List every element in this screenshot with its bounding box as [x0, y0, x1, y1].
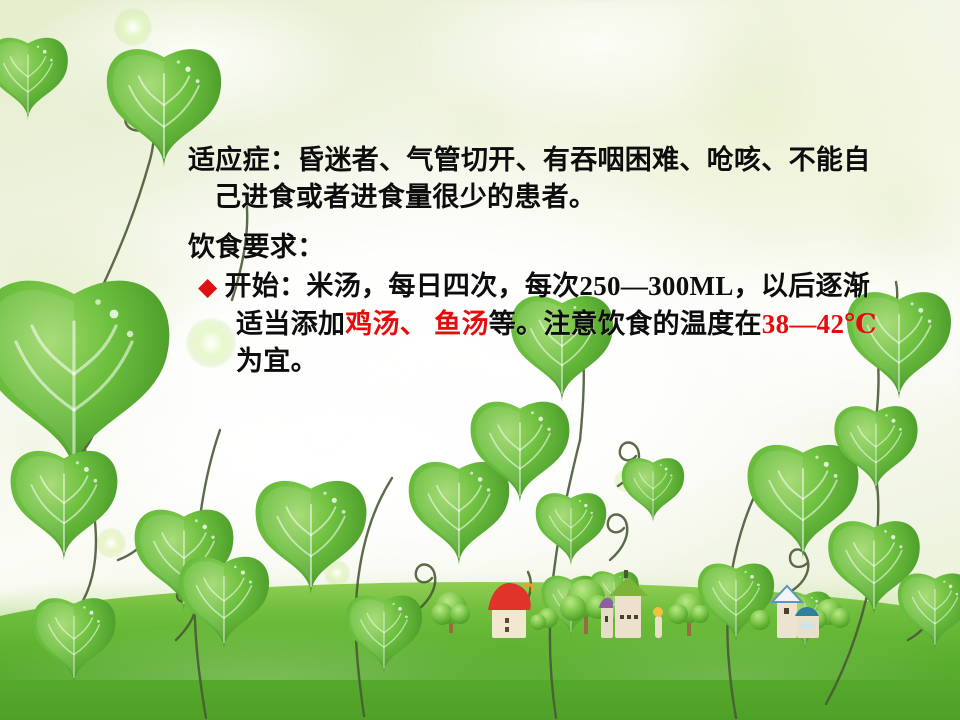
highlight-soups: 鸡汤、 鱼汤	[345, 309, 489, 339]
slide-body-text: 适应症：昏迷者、气管切开、有吞咽困难、呛咳、不能自己进食或者进食量很少的患者。 …	[188, 142, 894, 380]
slide-canvas: 适应症：昏迷者、气管切开、有吞咽困难、呛咳、不能自己进食或者进食量很少的患者。 …	[0, 0, 960, 720]
indication-label: 适应症：	[188, 145, 297, 175]
requirement-bullet-item: ◆开始：米汤，每日四次，每次250—300ML，以后逐渐适当添加鸡汤、 鱼汤等。…	[188, 268, 894, 380]
bullet-text-line2b: 等。注意饮食的温	[489, 309, 707, 339]
bullet-text-line3a: 度在	[707, 309, 762, 339]
grass-field	[0, 582, 960, 720]
diamond-bullet-icon: ◆	[198, 274, 225, 301]
bullet-text-line3b: 为宜。	[236, 346, 318, 376]
indication-line1: 昏迷者、气管切开、有吞咽困难、呛咳、	[297, 145, 788, 175]
requirement-label: 饮食要求：	[188, 229, 894, 266]
indication-paragraph: 适应症：昏迷者、气管切开、有吞咽困难、呛咳、不能自己进食或者进食量很少的患者。	[188, 142, 894, 216]
bullet-text-line1: 开始：米汤，每日四次，每次250—300ML，以	[225, 271, 789, 301]
highlight-temperature: 38—42℃	[762, 309, 877, 339]
